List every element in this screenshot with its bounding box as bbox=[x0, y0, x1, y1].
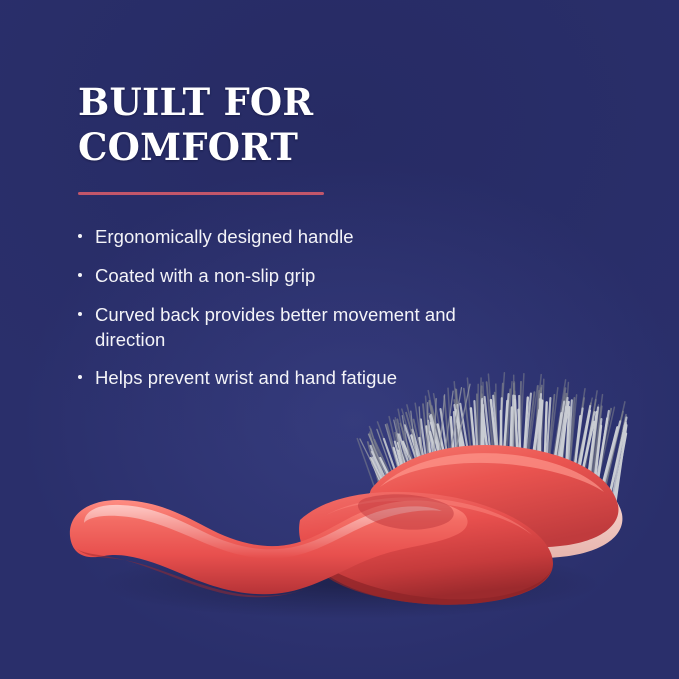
bristle-pin bbox=[537, 394, 541, 462]
bristle-pin bbox=[398, 434, 408, 484]
bristle-pin bbox=[576, 398, 593, 473]
bristle-pin bbox=[454, 400, 463, 455]
bristle-pin bbox=[474, 401, 477, 457]
brush-pad-rim bbox=[366, 452, 622, 559]
bristle-pin bbox=[514, 382, 516, 449]
bristle-pin bbox=[590, 405, 599, 482]
bristle-pin bbox=[507, 382, 512, 447]
bristle-pin bbox=[527, 392, 535, 457]
handle-pad-joint bbox=[358, 494, 454, 529]
bristle-pin bbox=[569, 398, 574, 470]
bristle-pin bbox=[546, 398, 550, 468]
bristle-pin bbox=[371, 458, 392, 500]
bristle-pin bbox=[460, 404, 469, 461]
bristle-pin bbox=[395, 418, 404, 471]
brush-handle-shadow bbox=[76, 548, 310, 597]
bristle-pin bbox=[384, 439, 401, 488]
bristle-pin bbox=[429, 401, 442, 462]
bristle-pin-stray bbox=[369, 434, 392, 488]
bristle-pin bbox=[594, 426, 601, 492]
bristle-pin bbox=[613, 434, 626, 503]
bristle-pin bbox=[483, 405, 484, 464]
bristle-pin bbox=[557, 402, 568, 472]
list-item: Helps prevent wrist and hand fatigue bbox=[78, 366, 518, 391]
bristle-pin bbox=[610, 415, 626, 495]
bristle-pin bbox=[590, 407, 599, 483]
bristle-pin bbox=[429, 414, 437, 464]
bristle-pin bbox=[574, 416, 581, 478]
bristle-pin bbox=[510, 408, 512, 461]
bristle-pin bbox=[556, 398, 567, 470]
bristle-pin bbox=[451, 417, 455, 471]
bristle-pin bbox=[495, 393, 498, 453]
bristle-pin bbox=[430, 416, 442, 470]
bristle-pin bbox=[575, 403, 591, 477]
bristle-pin bbox=[554, 388, 566, 463]
bristle-pin bbox=[444, 396, 450, 458]
product-feature-poster: BUILT FOR COMFORT Ergonomically designed… bbox=[0, 0, 679, 679]
bristle-pin bbox=[500, 384, 503, 453]
bristle-pin bbox=[615, 425, 626, 503]
bristle-pin-stray bbox=[402, 416, 412, 476]
bristle-pin bbox=[483, 382, 486, 445]
bristle-pin bbox=[555, 394, 565, 466]
bristle-pin-stray bbox=[411, 411, 418, 473]
list-item: Curved back provides better movement and… bbox=[78, 303, 518, 353]
bristle-pin bbox=[539, 399, 540, 464]
brush-pad-face bbox=[370, 445, 618, 548]
brush-body-shape bbox=[299, 492, 553, 605]
bristle-pin bbox=[589, 407, 598, 484]
bristle-pin bbox=[430, 432, 442, 476]
bristle-pin bbox=[456, 390, 461, 454]
bristle-pin bbox=[458, 422, 462, 469]
title-divider bbox=[78, 192, 324, 195]
bristle-pin bbox=[357, 439, 375, 489]
list-item: Coated with a non-slip grip bbox=[78, 264, 518, 289]
bristle-pin bbox=[604, 412, 624, 493]
bristle-pin bbox=[501, 411, 502, 463]
bristle-pin bbox=[430, 401, 438, 458]
bristle-pin bbox=[487, 382, 493, 450]
bristle-pin bbox=[520, 374, 524, 451]
bristle-pin bbox=[421, 419, 428, 471]
bristle-pin-stray bbox=[454, 384, 470, 457]
bristle-pin bbox=[400, 424, 416, 471]
bristle-pin bbox=[519, 382, 521, 454]
bristle-pin bbox=[529, 386, 538, 454]
bristle-pin bbox=[454, 382, 460, 448]
brush-body-sheen bbox=[318, 497, 532, 535]
bristle-pin bbox=[512, 396, 513, 457]
bristle-pin bbox=[434, 394, 444, 452]
bristle-pin bbox=[471, 408, 476, 465]
bristle-pin bbox=[568, 400, 572, 474]
bristle-pin bbox=[369, 434, 387, 487]
bristle-pin bbox=[595, 409, 611, 487]
bristle-pin bbox=[426, 427, 433, 477]
bristle-pin-stray bbox=[444, 391, 453, 461]
bristle-pin bbox=[372, 452, 393, 493]
bristle-pin bbox=[431, 415, 444, 466]
bristle-pin-stray bbox=[419, 407, 423, 470]
bristle-pin bbox=[538, 401, 542, 468]
bristle-pin bbox=[605, 402, 625, 491]
bristle-pin bbox=[548, 395, 554, 464]
bullet-dot-icon bbox=[78, 312, 82, 316]
bristle-pin bbox=[602, 421, 621, 493]
list-item-label: Coated with a non-slip grip bbox=[95, 265, 315, 286]
bristle-pin-stray bbox=[385, 425, 401, 482]
bristle-pin-stray bbox=[360, 439, 386, 491]
bristle-pin bbox=[582, 400, 596, 479]
bristle-pin bbox=[533, 400, 541, 464]
bristle-pin bbox=[592, 406, 602, 486]
bristle-pin bbox=[515, 396, 518, 460]
bristle-pin bbox=[553, 413, 562, 472]
bristle-pin bbox=[372, 445, 386, 488]
bristle-pin bbox=[454, 405, 463, 459]
bristle-pin bbox=[458, 418, 468, 466]
bristle-field bbox=[357, 373, 626, 504]
bristle-pin bbox=[532, 410, 540, 466]
bristle-pin bbox=[398, 451, 408, 492]
bristle-pin bbox=[515, 391, 517, 454]
bristle-pin bbox=[441, 409, 449, 464]
bristle-pin bbox=[573, 398, 584, 475]
bristle-pin bbox=[559, 416, 566, 477]
bristle-pin bbox=[574, 408, 583, 476]
bristle-pin bbox=[406, 413, 422, 471]
list-item: Ergonomically designed handle bbox=[78, 225, 518, 250]
bristle-pin bbox=[572, 389, 585, 474]
brush-pad-highlight bbox=[380, 453, 604, 492]
bristle-pin bbox=[609, 418, 626, 499]
bristle-pin bbox=[458, 405, 462, 461]
brush-body bbox=[299, 492, 553, 605]
bullet-dot-icon bbox=[78, 273, 82, 277]
bristle-pin bbox=[505, 389, 510, 450]
bristle-pin bbox=[596, 418, 608, 494]
bristle-pin bbox=[481, 399, 482, 457]
bristle-pin bbox=[593, 419, 601, 490]
bristle-pin bbox=[432, 406, 444, 458]
bristle-pin bbox=[370, 432, 382, 483]
bristle-pin bbox=[563, 383, 569, 466]
bristle-pin bbox=[540, 388, 541, 462]
bristle-pin bbox=[554, 402, 565, 468]
bristle-pin bbox=[415, 403, 423, 459]
bristle-pin bbox=[368, 442, 382, 493]
bristle-pin bbox=[389, 417, 402, 472]
bristle-pin bbox=[570, 395, 577, 469]
brush-pad bbox=[366, 445, 622, 559]
bristle-pin bbox=[584, 391, 597, 477]
list-item-label: Curved back provides better movement and… bbox=[95, 304, 456, 350]
bristle-pin bbox=[464, 389, 472, 454]
bristle-pin bbox=[504, 394, 509, 456]
bristle-pin bbox=[553, 380, 566, 461]
bristle-pin bbox=[407, 405, 422, 464]
bristle-pin bbox=[394, 448, 407, 492]
bristle-pin bbox=[541, 379, 544, 459]
bristle-pin bbox=[591, 395, 602, 482]
bristle-pin bbox=[373, 458, 386, 498]
brush-handle bbox=[70, 500, 468, 597]
bristle-pin bbox=[534, 375, 542, 453]
bristle-pin bbox=[566, 407, 570, 478]
bristle-pin bbox=[536, 391, 539, 458]
bristle-pin bbox=[457, 390, 459, 449]
bristle-pin bbox=[608, 423, 625, 500]
bristle-pin bbox=[525, 394, 531, 460]
bristle-pin bbox=[503, 401, 507, 463]
bristle-pin bbox=[403, 442, 421, 484]
bristle-pin bbox=[402, 409, 418, 463]
bristle-pin bbox=[420, 438, 428, 481]
bristle-pin bbox=[398, 443, 412, 489]
bristle-pin bbox=[493, 396, 498, 456]
bristle-pin bbox=[448, 388, 452, 452]
bristle-pin bbox=[612, 426, 624, 499]
bristle-pin bbox=[576, 406, 591, 481]
bristle-pin bbox=[431, 423, 445, 475]
bristle-pin bbox=[413, 430, 426, 477]
bristle-pin bbox=[398, 409, 409, 466]
product-shadow bbox=[100, 547, 600, 619]
bristle-pin bbox=[485, 397, 491, 456]
bristle-pin bbox=[370, 427, 389, 480]
bristle-pin bbox=[561, 394, 567, 470]
bristle-pin bbox=[426, 396, 431, 457]
bristle-pin bbox=[454, 412, 457, 465]
bristle-pin bbox=[500, 398, 502, 458]
bristle-pin bbox=[579, 422, 593, 486]
bristle-pin bbox=[496, 384, 497, 448]
bristle-pin bbox=[438, 425, 448, 471]
bristle-pin bbox=[397, 419, 408, 475]
bristle-pin bbox=[534, 386, 542, 459]
brush-handle-gloss bbox=[84, 505, 442, 559]
bristle-pin bbox=[549, 388, 557, 459]
copy-block: BUILT FOR COMFORT Ergonomically designed… bbox=[78, 80, 518, 391]
bristle-pin bbox=[405, 425, 422, 476]
bristle-pin bbox=[456, 404, 458, 457]
bristle-pin bbox=[374, 440, 394, 484]
bristle-pin-stray bbox=[394, 420, 407, 478]
bristle-pin bbox=[395, 442, 406, 485]
feature-bullet-list: Ergonomically designed handle Coated wit… bbox=[78, 225, 518, 391]
brush-handle-shape bbox=[70, 500, 468, 594]
bristle-pin bbox=[428, 421, 435, 470]
page-title: BUILT FOR COMFORT bbox=[78, 80, 518, 170]
bristle-pin bbox=[587, 412, 597, 486]
bristle-pin bbox=[399, 434, 414, 479]
bristle-pin bbox=[428, 391, 440, 453]
bristle-pin-stray bbox=[449, 388, 461, 459]
list-item-label: Helps prevent wrist and hand fatigue bbox=[95, 367, 397, 388]
bristle-pin bbox=[477, 394, 478, 450]
bristle-pin bbox=[371, 429, 385, 480]
bristle-pin bbox=[456, 410, 465, 465]
bristle-pin bbox=[414, 420, 424, 468]
bristle-pin bbox=[380, 458, 399, 498]
bristle-pin bbox=[577, 411, 590, 484]
bristle-pin-stray bbox=[433, 399, 436, 465]
bristle-pin bbox=[482, 400, 484, 458]
bristle-pin bbox=[480, 386, 482, 452]
bullet-dot-icon bbox=[78, 234, 82, 238]
bristle-pin bbox=[478, 384, 479, 445]
bristle-pin bbox=[515, 400, 518, 464]
bristle-pin bbox=[378, 422, 397, 474]
bristle-pin bbox=[597, 407, 615, 485]
bristle-pin bbox=[524, 398, 528, 463]
bristle-pin bbox=[595, 411, 609, 490]
bristle-pin bbox=[395, 433, 405, 479]
brush-body-underside bbox=[310, 556, 552, 605]
bristle-pin bbox=[387, 424, 402, 479]
bristle-pin bbox=[411, 435, 426, 483]
bristle-pin bbox=[544, 402, 546, 470]
bristle-pin bbox=[580, 412, 594, 481]
bristle-pin-stray bbox=[439, 395, 445, 463]
bristle-pin bbox=[535, 386, 538, 455]
bristle-pin bbox=[483, 413, 489, 464]
bristle-pin bbox=[519, 410, 521, 465]
bristle-pin bbox=[491, 400, 497, 461]
bristle-pin bbox=[423, 404, 429, 463]
bristle-pin bbox=[456, 389, 465, 449]
bristle-pin bbox=[600, 427, 617, 494]
bristle-pin bbox=[560, 407, 567, 474]
bristle-pin bbox=[372, 463, 389, 502]
list-item-label: Ergonomically designed handle bbox=[95, 226, 354, 247]
bullet-dot-icon bbox=[78, 375, 82, 379]
bristle-pin bbox=[371, 446, 389, 494]
bristle-pin-stray bbox=[377, 429, 397, 484]
bristle-pin bbox=[482, 394, 484, 452]
bristle-pin bbox=[555, 398, 566, 469]
